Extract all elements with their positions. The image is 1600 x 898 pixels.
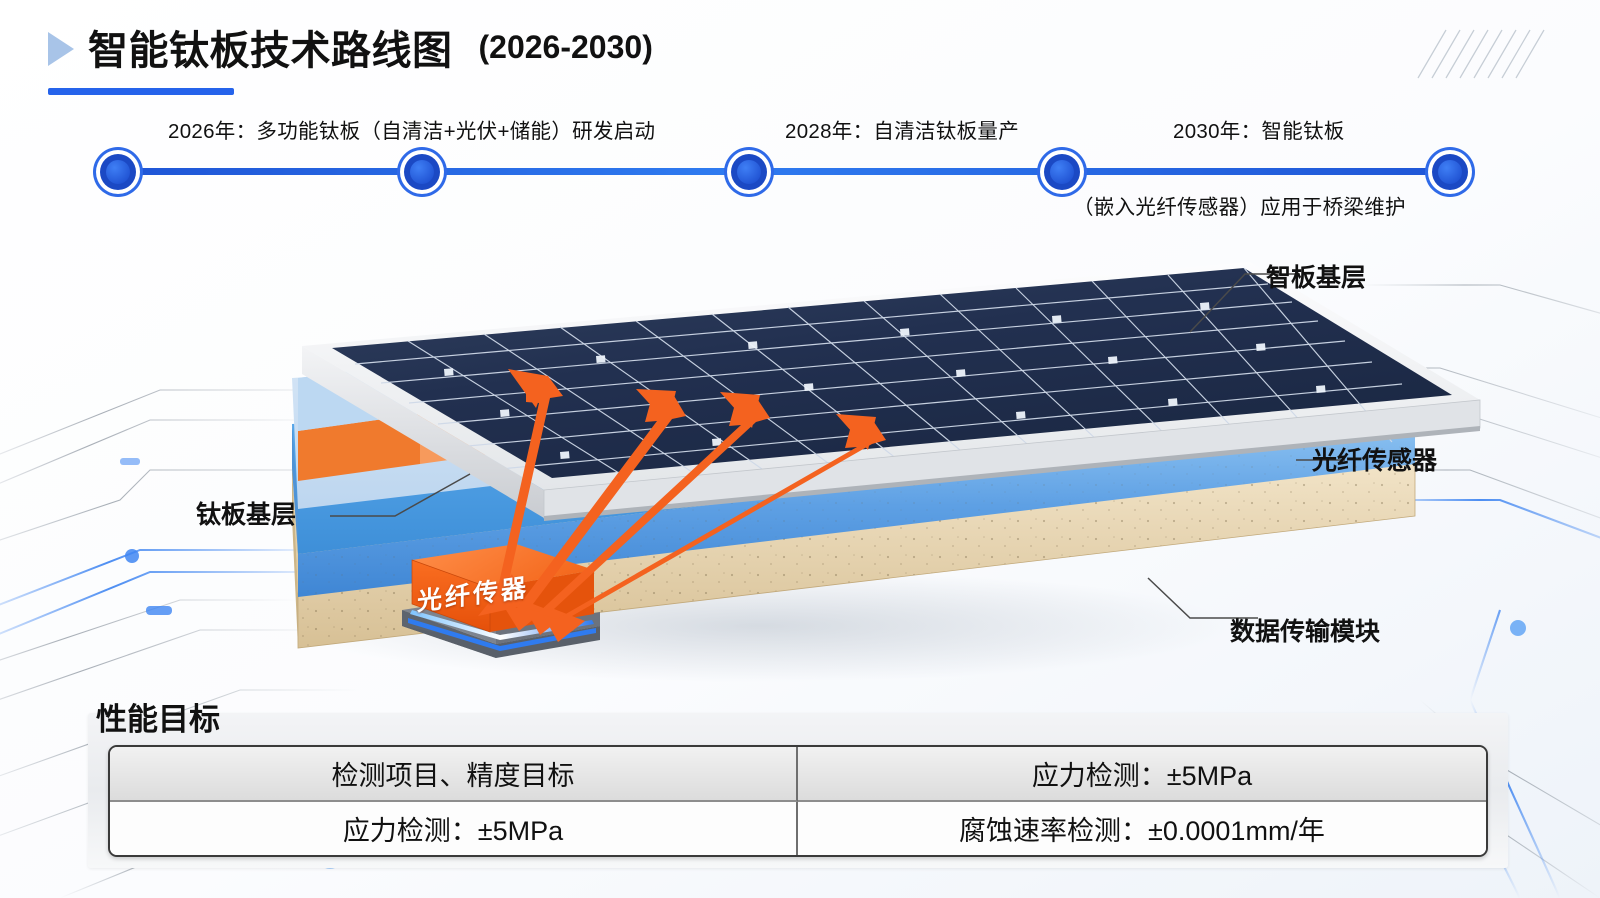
timeline-label-2030: 2030年：智能钛板	[1173, 114, 1345, 144]
roadmap-timeline: 2026年：多功能钛板（自清洁+光伏+储能）研发启动 2028年：自清洁钛板量产…	[0, 108, 1600, 218]
table-row: 应力检测：±5MPa 腐蚀速率检测：±0.0001mm/年	[110, 802, 1486, 855]
page-title-years: (2026-2030)	[479, 29, 653, 66]
table-header-cell-0: 检测项目、精度目标	[110, 747, 798, 802]
callout-zhiban-jiceng: 智板基层	[1266, 258, 1366, 294]
page-title: 智能钛板技术路线图	[88, 18, 453, 76]
table-header-row: 检测项目、精度目标 应力检测：±5MPa	[110, 747, 1486, 802]
table-header-cell-1: 应力检测：±5MPa	[798, 747, 1486, 802]
timeline-dot-3[interactable]	[731, 154, 767, 190]
timeline-dot-5[interactable]	[1432, 154, 1468, 190]
callout-guangxian-chuanganqi: 光纤传感器	[1312, 441, 1437, 477]
timeline-dot-2[interactable]	[404, 154, 440, 190]
performance-section-title: 性能目标	[96, 694, 220, 739]
table-body-cell-0: 应力检测：±5MPa	[110, 802, 798, 855]
page-header: 智能钛板技术路线图 (2026-2030)	[48, 18, 653, 76]
timeline-label-2026: 2026年：多功能钛板（自清洁+光伏+储能）研发启动	[168, 114, 655, 144]
timeline-label-2030-detail: （嵌入光纤传感器）应用于桥梁维护	[1073, 190, 1406, 220]
table-body-cell-1: 腐蚀速率检测：±0.0001mm/年	[798, 802, 1486, 855]
callout-shuju-chuanshu-mokuai: 数据传输模块	[1230, 612, 1380, 648]
callout-tiban-jiceng: 钛板基层	[196, 495, 296, 531]
title-underline	[48, 88, 234, 95]
timeline-dot-4[interactable]	[1044, 154, 1080, 190]
triangle-right-icon	[48, 32, 74, 66]
timeline-label-2028: 2028年：自清洁钛板量产	[785, 114, 1019, 144]
timeline-dot-1[interactable]	[100, 154, 136, 190]
performance-table: 检测项目、精度目标 应力检测：±5MPa 应力检测：±5MPa 腐蚀速率检测：±…	[108, 745, 1488, 857]
timeline-track	[118, 168, 1468, 175]
